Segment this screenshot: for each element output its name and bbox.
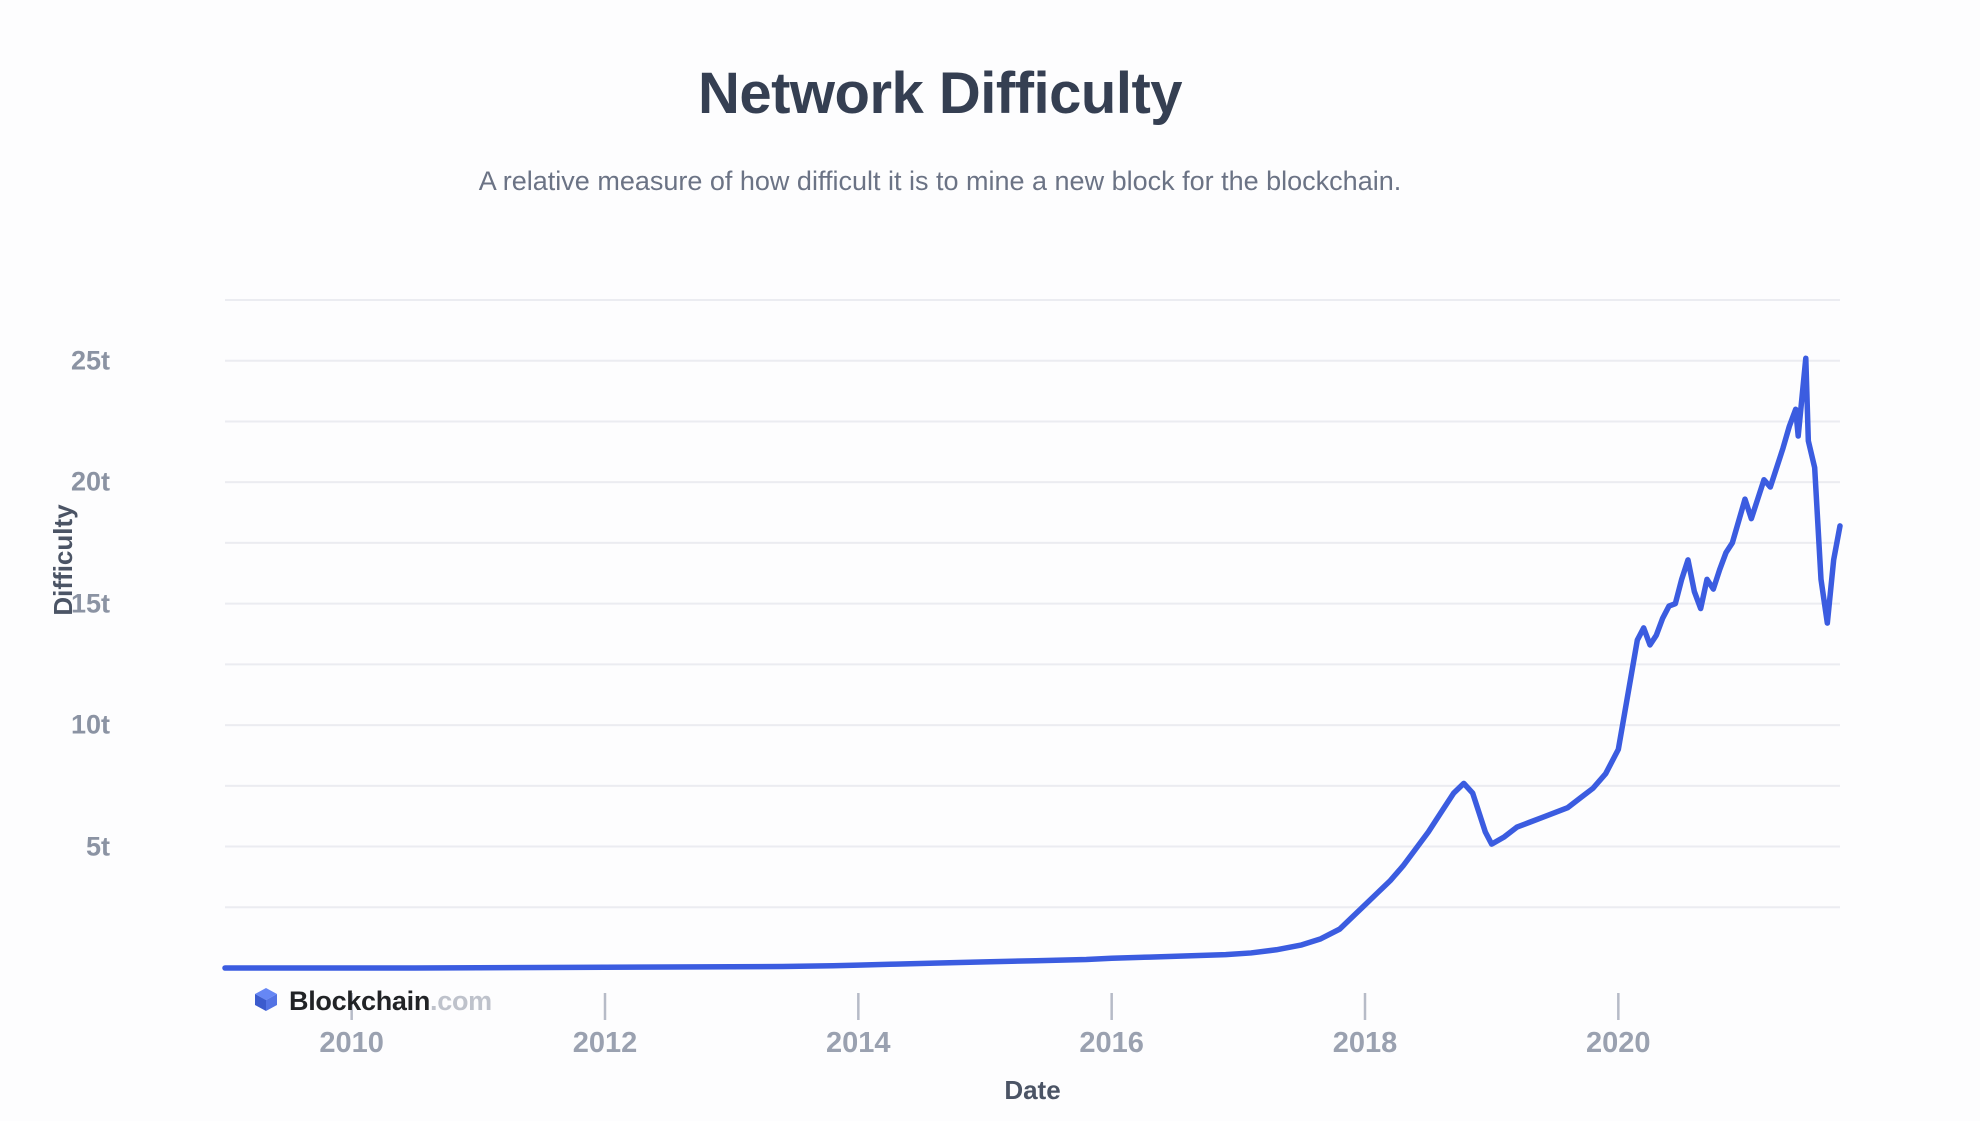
x-tick-label: 2018 xyxy=(1285,1027,1445,1060)
plot-area[interactable] xyxy=(0,0,1980,1121)
y-axis-title: Difficulty xyxy=(48,504,79,615)
gridlines-group xyxy=(225,300,1840,907)
x-tick-label: 2016 xyxy=(1032,1027,1192,1060)
x-tick-label: 2020 xyxy=(1538,1027,1698,1060)
blockchain-cube-icon xyxy=(252,985,280,1018)
y-tick-label: 25t xyxy=(0,345,110,376)
watermark-label: Blockchain.com xyxy=(289,986,492,1017)
y-tick-label: 10t xyxy=(0,710,110,741)
blockchain-com-watermark[interactable]: Blockchain.com xyxy=(252,985,492,1018)
y-tick-label: 5t xyxy=(0,831,110,862)
x-axis-title: Date xyxy=(225,1075,1840,1106)
watermark-tld: .com xyxy=(430,986,492,1016)
x-tick-label: 2014 xyxy=(778,1027,938,1060)
watermark-brand: Blockchain xyxy=(289,986,430,1016)
network-difficulty-chart-card: Network Difficulty A relative measure of… xyxy=(0,0,1980,1121)
y-tick-label: 20t xyxy=(0,467,110,498)
x-tick-marks-group xyxy=(352,993,1619,1020)
chart-svg[interactable] xyxy=(0,0,1980,1121)
x-tick-label: 2012 xyxy=(525,1027,685,1060)
x-tick-label: 2010 xyxy=(272,1027,432,1060)
difficulty-line-series[interactable] xyxy=(225,358,1840,968)
